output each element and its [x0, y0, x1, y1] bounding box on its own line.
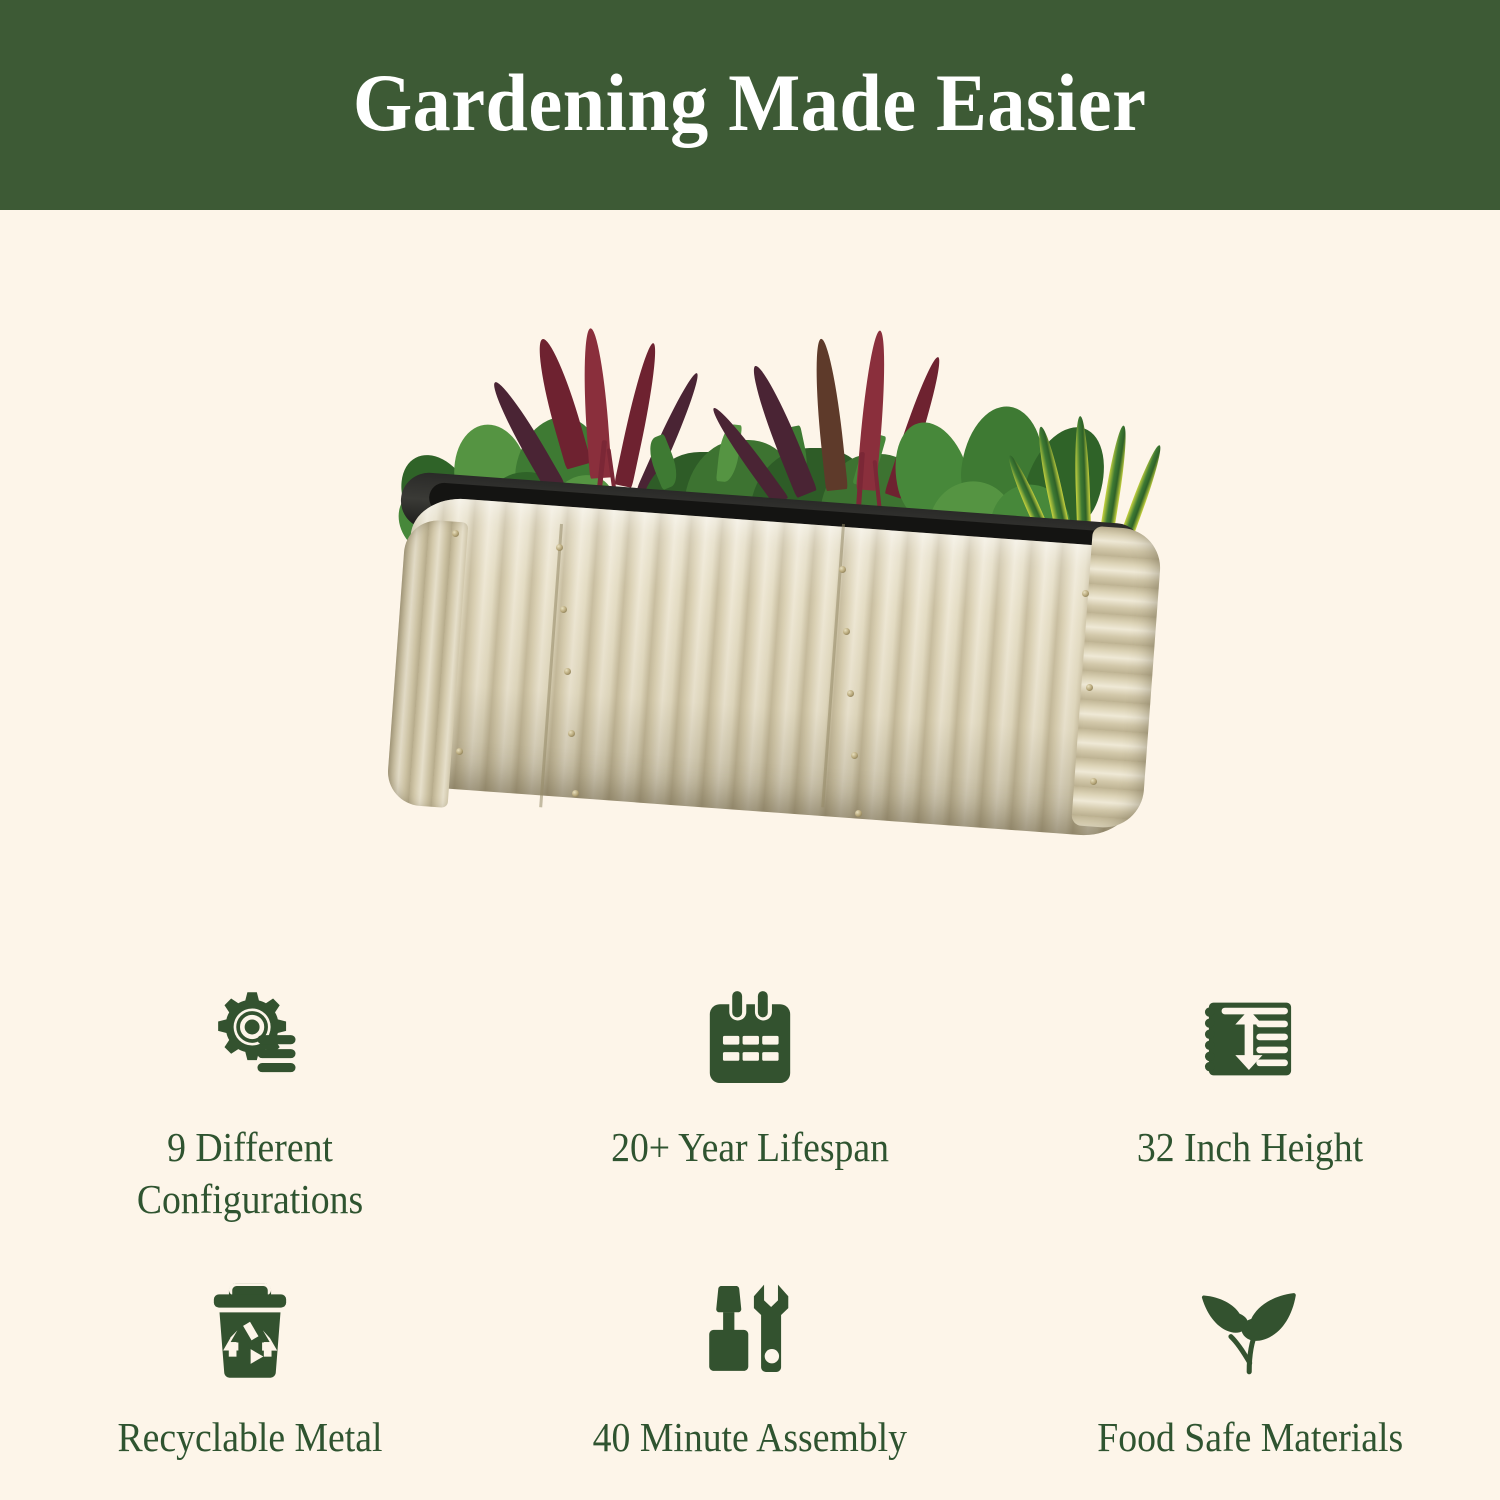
feature-row-bottom: Recyclable Metal 40 Minute Assembly: [0, 1245, 1500, 1500]
screw: [1082, 590, 1089, 597]
feature-height: 32 Inch Height: [1000, 955, 1500, 1245]
header-banner: Gardening Made Easier: [0, 0, 1500, 210]
planter-shell: [392, 498, 1152, 838]
feature-recyclable: Recyclable Metal: [0, 1245, 500, 1500]
feature-label: 20+ Year Lifespan: [611, 1121, 889, 1173]
feature-row-top: 9 Different Configurations: [0, 955, 1500, 1245]
screw: [568, 730, 575, 737]
corrugated-wall: [392, 495, 1151, 838]
height-ruler-icon: [1201, 985, 1299, 1093]
tools-icon: [700, 1275, 800, 1383]
screw: [556, 544, 563, 551]
feature-label: 9 Different Configurations: [137, 1121, 363, 1226]
feature-configurations: 9 Different Configurations: [0, 955, 500, 1245]
screw: [1086, 684, 1093, 691]
screw: [855, 810, 862, 817]
screw: [851, 752, 858, 759]
feature-food-safe: Food Safe Materials: [1000, 1245, 1500, 1500]
calendar-icon: [705, 985, 795, 1093]
feature-label: Food Safe Materials: [1097, 1411, 1403, 1463]
screw: [1090, 778, 1097, 785]
feature-label: 32 Inch Height: [1137, 1121, 1363, 1173]
screw: [843, 628, 850, 635]
feature-label: Recyclable Metal: [118, 1411, 383, 1463]
screw: [847, 690, 854, 697]
screw: [560, 606, 567, 613]
screw: [572, 790, 579, 797]
raised-garden-bed: [392, 498, 1152, 878]
screw: [452, 530, 459, 537]
feature-assembly: 40 Minute Assembly: [500, 1245, 1000, 1500]
product-image: [0, 210, 1500, 955]
screw: [839, 566, 846, 573]
page-title: Gardening Made Easier: [353, 62, 1147, 144]
feature-grid: 9 Different Configurations: [0, 955, 1500, 1500]
recycle-bin-icon: [206, 1275, 294, 1383]
gear-configuration-icon: [198, 985, 302, 1093]
feature-label: 40 Minute Assembly: [593, 1411, 907, 1463]
feature-lifespan: 20+ Year Lifespan: [500, 955, 1000, 1245]
screw: [564, 668, 571, 675]
leaf-icon: [1196, 1275, 1304, 1383]
product-hero: [0, 210, 1500, 955]
screw: [456, 748, 463, 755]
